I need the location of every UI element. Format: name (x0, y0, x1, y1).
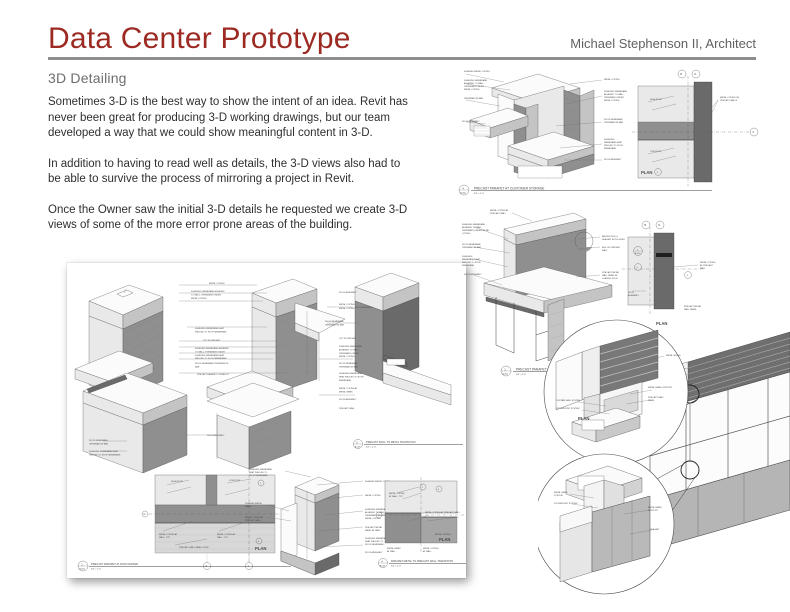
slide-page: Data Center Prototype Michael Stephenson… (0, 0, 790, 612)
svg-text:STOREFRONT SYSTEM: STOREFRONT SYSTEM (556, 408, 580, 410)
svg-text:METAL SIDING: METAL SIDING (666, 354, 681, 357)
svg-text:MEMBRANE: MEMBRANE (339, 379, 352, 382)
svg-text:1: 1 (504, 367, 506, 371)
facade-callouts-graphic: CURTAIN WALL SYSTEM STOREFRONT SYSTEM ME… (538, 310, 790, 610)
svg-text:A-550: A-550 (502, 372, 508, 375)
svg-text:WALL: WALL (602, 249, 608, 252)
plan-view-customer-storage: B D C PLAN 4 HIGH ROOF LOW ROOF METAL CO… (632, 70, 758, 186)
svg-text:FLASHING MEMBRANE: FLASHING MEMBRANE (462, 223, 486, 226)
right-drawing-customer-storage: FLASHED METAL COPING FLASHING MEMBRANE A… (452, 60, 790, 200)
svg-text:METAL PANEL: METAL PANEL (387, 547, 402, 550)
svg-text:ROOF MEMBRANE: ROOF MEMBRANE (249, 474, 268, 477)
svg-text:3/4" = 1'-0": 3/4" = 1'-0" (391, 566, 401, 568)
svg-text:METAL COPING: METAL COPING (604, 99, 620, 102)
svg-text:CURTAIN WALL SYSTEM: CURTAIN WALL SYSTEM (556, 399, 581, 402)
svg-text:FLASHING MEMBRANE: FLASHING MEMBRANE (604, 90, 628, 93)
plan-detail-bottom-right: 5 1 4 PLAN METAL COPING AT WALL, TYP. ME… (376, 477, 465, 553)
right-drawing-facade-callouts: CURTAIN WALL SYSTEM STOREFRONT SYSTEM ME… (538, 310, 790, 610)
svg-text:PANEL AT WALL: PANEL AT WALL (365, 529, 382, 532)
svg-text:PRECAST WALL: PRECAST WALL (245, 519, 262, 522)
svg-text:ROOF MEMBRANE: ROOF MEMBRANE (462, 243, 481, 246)
svg-text:FLASHING MEMBRANE: FLASHING MEMBRANE (339, 345, 363, 348)
svg-text:ROOF ASSEMBLY: ROOF ASSEMBLY (462, 120, 480, 123)
svg-text:PANEL: PANEL (648, 399, 656, 402)
enlargement-bubble-upper: CURTAIN WALL SYSTEM STOREFRONT SYSTEM ME… (544, 320, 688, 464)
svg-text:ROOF MEMBRANE: ROOF MEMBRANE (365, 543, 384, 546)
svg-text:ROOF MEMBRANE TERMINATION: ROOF MEMBRANE TERMINATION (195, 362, 229, 365)
svg-text:D: D (658, 223, 660, 227)
svg-text:PRECAST PARAPET CORNER JT: PRECAST PARAPET CORNER JT (197, 373, 230, 376)
svg-text:ROOF ASSEMBLY: ROOF ASSEMBLY (464, 273, 482, 276)
svg-text:PANEL: PANEL (245, 505, 253, 508)
svg-text:FLASHING MEMBRANE ADHERED: FLASHING MEMBRANE ADHERED (191, 290, 225, 293)
svg-text:AT WALL, TYP.: AT WALL, TYP. (389, 495, 404, 498)
svg-text:ADHERED TO WALL,: ADHERED TO WALL, (339, 348, 360, 351)
svg-text:METAL PANEL SUPPORT: METAL PANEL SUPPORT (648, 386, 673, 389)
svg-text:METAL COPING ON: METAL COPING ON (720, 96, 740, 99)
svg-text:WELDED TO ROOF MEMBRANE: WELDED TO ROOF MEMBRANE (195, 357, 227, 360)
svg-text:A-550: A-550 (380, 564, 386, 567)
svg-text:PARAPET METAL TO PRECAST WALL: PARAPET METAL TO PRECAST WALL TRANSITION (391, 559, 453, 563)
section-subtitle: 3D Detailing (48, 70, 127, 86)
enlargement-bubble-lower: METAL PANEL SYSTEM STOREFRONT SYSTEM MET… (538, 454, 674, 594)
svg-text:FLASHING: FLASHING (604, 138, 615, 141)
svg-text:PLAN: PLAN (578, 416, 589, 421)
page-header: Data Center Prototype Michael Stephenson… (48, 22, 756, 62)
svg-text:PRECAST PARAPET AT CUSTOMER ST: PRECAST PARAPET AT CUSTOMER STORAGE (474, 186, 544, 190)
svg-text:WELDED TO ROOF: WELDED TO ROOF (604, 145, 624, 147)
svg-text:WELDED TO ROOF MEMBRANE: WELDED TO ROOF MEMBRANE (89, 453, 121, 456)
svg-text:PRECAST WALLS: PRECAST WALLS (720, 99, 738, 102)
svg-text:SEALANT BOTH SIDES: SEALANT BOTH SIDES (602, 238, 625, 241)
svg-text:ROOF MEMBRANE: ROOF MEMBRANE (89, 439, 108, 442)
svg-text:WALL: WALL (700, 267, 706, 270)
svg-text:METAL COPING AT: METAL COPING AT (159, 533, 178, 536)
svg-text:SEALANT: SEALANT (650, 528, 660, 531)
svg-text:A-550: A-550 (460, 191, 466, 194)
svg-text:SUPPORT: SUPPORT (648, 510, 659, 512)
svg-text:ADHERED TO WALL,: ADHERED TO WALL, (604, 93, 625, 96)
svg-text:WELDED TO ROOF MEMBRANE: WELDED TO ROOF MEMBRANE (195, 330, 227, 333)
svg-text:FLASHING: FLASHING (462, 255, 473, 258)
svg-text:A-550: A-550 (635, 252, 641, 255)
svg-text:METAL COPING: METAL COPING (339, 307, 355, 310)
svg-text:WALL, TYP.: WALL, TYP. (159, 536, 170, 539)
svg-text:ROOF: ROOF (628, 292, 635, 294)
svg-text:TO WALL, TERMINATE UNDER: TO WALL, TERMINATE UNDER (191, 293, 221, 296)
svg-text:AT PRECAST: AT PRECAST (700, 264, 714, 267)
svg-text:PRECAST METAL: PRECAST METAL (684, 305, 702, 308)
svg-text:TERMINATE UNDER: TERMINATE UNDER (339, 352, 359, 355)
svg-text:TERMINATE UNDER: TERMINATE UNDER (464, 85, 484, 88)
svg-text:METAL PANEL: METAL PANEL (339, 390, 354, 393)
svg-text:PRECAST METAL: PRECAST METAL (602, 271, 620, 274)
svg-text:METAL COPING: METAL COPING (365, 494, 381, 497)
svg-text:HEAT WELDED TO ROOF: HEAT WELDED TO ROOF (339, 375, 365, 378)
svg-text:PLAN: PLAN (641, 170, 652, 175)
svg-text:ROOF ASSEMBLY: ROOF ASSEMBLY (604, 158, 622, 161)
svg-text:METAL PANEL: METAL PANEL (648, 506, 663, 509)
svg-text:ADHERED TO WALL,: ADHERED TO WALL, (462, 226, 483, 229)
svg-text:BACKER ROD &: BACKER ROD & (602, 235, 618, 238)
svg-text:WALL PANEL AT: WALL PANEL AT (602, 274, 618, 277)
svg-text:PRECAST WALL: PRECAST WALL (648, 396, 665, 399)
svg-text:ROOF ASSEMBLY: ROOF ASSEMBLY (339, 291, 357, 294)
svg-text:METAL COPING: METAL COPING (423, 547, 439, 550)
svg-text:ROOF ASSEMBLY: ROOF ASSEMBLY (339, 398, 357, 401)
paragraph-2: In addition to having to read well as de… (48, 157, 413, 188)
svg-text:FLASHED METAL: FLASHED METAL (245, 502, 263, 505)
svg-text:COPING: COPING (462, 233, 471, 235)
svg-text:HIGH ROOF: HIGH ROOF (171, 481, 184, 483)
svg-text:HEAT WELDED TO: HEAT WELDED TO (249, 471, 268, 474)
svg-text:3/4" = 1'-0": 3/4" = 1'-0" (474, 193, 484, 195)
svg-text:WELDED TO ROOF: WELDED TO ROOF (462, 262, 482, 264)
svg-text:METAL COPING AT PRECAST WALL: METAL COPING AT PRECAST WALL (425, 511, 461, 514)
svg-text:C: C (752, 130, 754, 134)
svg-text:METAL COPING: METAL COPING (191, 297, 207, 300)
svg-text:TERMINATE UNDER METAL: TERMINATE UNDER METAL (462, 229, 490, 232)
paragraph-3: Once the Owner saw the initial 3-D detai… (48, 203, 413, 234)
paragraph-1: Sometimes 3-D is the best way to show th… (48, 95, 413, 142)
drawing-sheet-card: METAL COPING FLASHING MEMBRANE ADHERED T… (67, 263, 466, 578)
svg-text:ROOF MEMBRANE: ROOF MEMBRANE (604, 118, 623, 121)
svg-text:CUT IN PRECAST: CUT IN PRECAST (203, 339, 221, 342)
svg-text:ROOF ASSEMBLY: ROOF ASSEMBLY (355, 306, 373, 309)
svg-text:TERMINATION BAR: TERMINATION BAR (325, 323, 345, 326)
svg-text:METAL COPING AT: METAL COPING AT (217, 533, 236, 536)
svg-text:3/4" = 1'-0": 3/4" = 1'-0" (366, 447, 376, 449)
svg-text:PRECAST WALL TO METAL TRANSITI: PRECAST WALL TO METAL TRANSITION (366, 440, 416, 444)
svg-text:LOW ROOF: LOW ROOF (650, 151, 662, 153)
svg-text:D: D (694, 72, 696, 76)
svg-text:METAL COPING: METAL COPING (389, 492, 405, 495)
svg-text:TERMINATION BAR: TERMINATION BAR (339, 365, 359, 368)
svg-text:AT WALL: AT WALL (423, 550, 432, 553)
svg-text:TERMINATION BAR: TERMINATION BAR (89, 442, 109, 445)
svg-text:B: B (644, 223, 646, 227)
page-title: Data Center Prototype (48, 22, 351, 56)
svg-text:WALL, TYP.: WALL, TYP. (217, 536, 228, 539)
svg-text:METAL COPING AT: METAL COPING AT (339, 387, 358, 390)
svg-text:FLASHING MEMBRANE HEAT: FLASHING MEMBRANE HEAT (195, 354, 225, 357)
svg-text:HEAT WELDED TO: HEAT WELDED TO (365, 540, 384, 543)
svg-text:TERMINATION BAR: TERMINATION BAR (462, 246, 482, 249)
svg-text:SYSTEM: SYSTEM (554, 495, 563, 497)
svg-text:MEMBRANE: MEMBRANE (604, 147, 617, 150)
svg-text:PRECAST PARAPET AT DATA CENTER: PRECAST PARAPET AT DATA CENTER (91, 562, 138, 566)
svg-text:PRECAST METAL: PRECAST METAL (365, 526, 383, 529)
svg-text:METAL COPING AT: METAL COPING AT (245, 516, 264, 519)
svg-text:4: 4 (687, 275, 689, 277)
svg-text:ADHERED TO WALL,: ADHERED TO WALL, (365, 511, 386, 514)
svg-text:TERMINATION BAR: TERMINATION BAR (604, 121, 624, 124)
svg-text:METAL COPING: METAL COPING (464, 88, 480, 91)
svg-text:B: B (680, 72, 682, 76)
svg-text:MEMBRANE: MEMBRANE (462, 264, 475, 267)
svg-text:METAL PANEL: METAL PANEL (554, 491, 569, 494)
author-byline: Michael Stephenson II, Architect (570, 36, 756, 51)
svg-text:TERMINATE UNDER: TERMINATE UNDER (365, 514, 385, 517)
svg-text:METAL COPING: METAL COPING (365, 517, 381, 520)
detail-title-customer-storage: 4 A-550 PRECAST PARAPET AT CUSTOMER STOR… (459, 185, 712, 195)
svg-text:METAL COPING: METAL COPING (339, 303, 355, 306)
svg-text:BAR: BAR (195, 365, 200, 368)
svg-text:CUT IN PRECAST: CUT IN PRECAST (339, 337, 357, 340)
svg-text:TERMINATION BAR: TERMINATION BAR (464, 97, 484, 100)
svg-text:ASSEMBLY: ASSEMBLY (628, 294, 640, 297)
svg-text:PLAN: PLAN (255, 546, 266, 551)
svg-text:METAL COPING: METAL COPING (339, 355, 355, 358)
svg-text:HIGH ROOF: HIGH ROOF (650, 99, 663, 101)
svg-text:FLASHING MEMBRANE: FLASHING MEMBRANE (464, 79, 488, 82)
svg-text:LOADING DOCK: LOADING DOCK (602, 277, 619, 280)
svg-text:METAL COPING: METAL COPING (209, 282, 225, 285)
svg-text:STOREFRONT SYSTEM: STOREFRONT SYSTEM (554, 503, 578, 505)
svg-text:LOW ROOF: LOW ROOF (229, 480, 241, 482)
svg-text:ROOF MEMBRANE: ROOF MEMBRANE (339, 362, 358, 365)
svg-text:METAL COPING: METAL COPING (435, 533, 451, 536)
svg-text:FLASHING MEMBRANE ADHERED: FLASHING MEMBRANE ADHERED (195, 347, 229, 350)
svg-text:END OF PRECAST: END OF PRECAST (602, 246, 621, 249)
svg-text:METAL COPING: METAL COPING (604, 78, 620, 81)
svg-text:A-550: A-550 (355, 445, 361, 448)
svg-text:TO WALL, TERMINATE UNDER: TO WALL, TERMINATE UNDER (195, 350, 225, 353)
svg-text:ROOF ASSEMBLY: ROOF ASSEMBLY (365, 551, 383, 554)
body-text-column: Sometimes 3-D is the best way to show th… (48, 95, 413, 234)
svg-text:PRECAST WALL: PRECAST WALL (490, 212, 507, 215)
svg-text:ROOF MEMBRANE: ROOF MEMBRANE (325, 320, 344, 323)
svg-text:FLASHING MEMBRANE HEAT: FLASHING MEMBRANE HEAT (89, 450, 119, 453)
svg-text:3/4" = 1'-0": 3/4" = 1'-0" (91, 569, 101, 571)
svg-text:MEMBRANE HEAT: MEMBRANE HEAT (604, 141, 623, 144)
customer-storage-graphic: FLASHED METAL COPING FLASHING MEMBRANE A… (452, 60, 790, 200)
svg-text:TERMINATE UNDER: TERMINATE UNDER (604, 96, 624, 99)
drawing-sheet-graphic: METAL COPING FLASHING MEMBRANE ADHERED T… (67, 263, 466, 578)
svg-text:FLASHING MEMBRANE: FLASHING MEMBRANE (339, 372, 363, 375)
svg-text:PRECAST WALL: PRECAST WALL (339, 407, 356, 410)
svg-text:METAL COPING: METAL COPING (700, 261, 716, 264)
svg-text:3/4" = 1'-0": 3/4" = 1'-0" (516, 374, 526, 376)
svg-text:FLASHED METAL COPING: FLASHED METAL COPING (464, 70, 490, 73)
svg-text:PLAN: PLAN (439, 537, 450, 542)
svg-text:ROOF ASSEMBLY: ROOF ASSEMBLY (207, 434, 225, 437)
svg-text:MEMBRANE HEAT: MEMBRANE HEAT (462, 258, 481, 261)
svg-text:ADHERED TO WALL,: ADHERED TO WALL, (464, 82, 485, 85)
svg-text:FLASHING MEMBRANE: FLASHING MEMBRANE (249, 468, 273, 471)
svg-text:4: 4 (462, 186, 464, 190)
svg-text:FLASHING MEMBRANE HEAT: FLASHING MEMBRANE HEAT (195, 327, 225, 330)
svg-text:AT WALL: AT WALL (387, 550, 396, 553)
svg-text:METAL COPING AT: METAL COPING AT (490, 209, 509, 212)
svg-text:PRECAST WALL PANEL JOINT: PRECAST WALL PANEL JOINT (179, 546, 209, 549)
svg-text:A-550: A-550 (79, 567, 85, 570)
